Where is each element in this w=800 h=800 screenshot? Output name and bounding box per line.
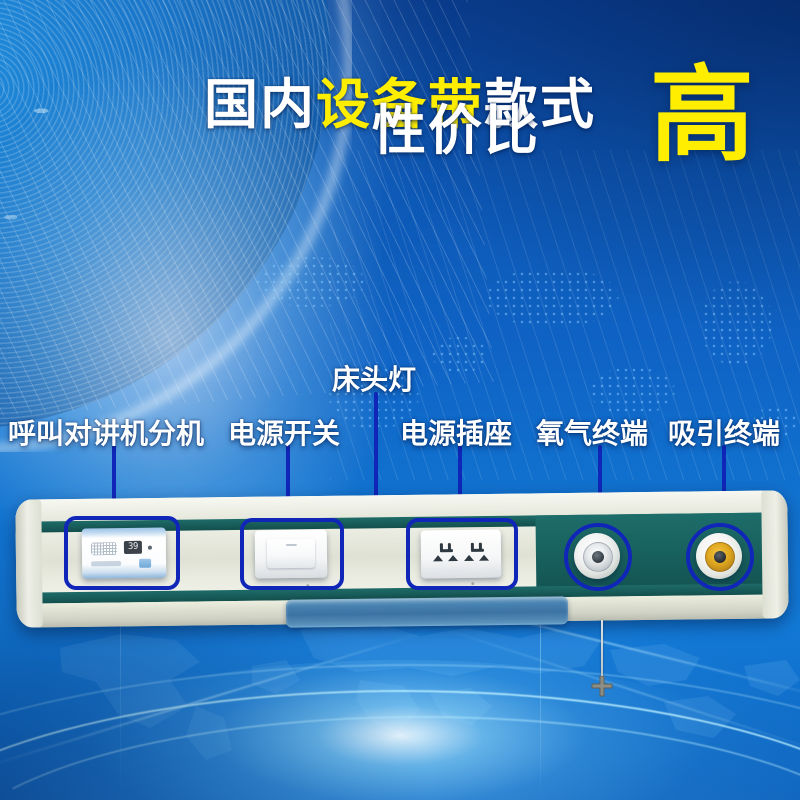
callout-label-suction: 吸引终端 [668,412,780,452]
highlight-box-intercom [64,516,180,590]
pull-cord-chain[interactable] [601,620,603,682]
headline-line-2: 性价比 [372,86,540,165]
panel-end-cap-right [761,490,789,618]
highlight-circle-suction [686,523,754,591]
banner-canvas: 国内设备带款式 性价比 高 39 [0,0,800,800]
callout-label-oxygen: 氧气终端 [536,412,648,452]
panel-end-cap-left [15,499,43,627]
headline-line1-part1: 国内 [204,73,316,136]
highlight-box-switch [240,518,344,590]
callout-label-intercom: 呼叫对讲机分机 [8,412,204,452]
callout-label-socket: 电源插座 [400,412,512,452]
bed-lamp-light-diffuser [286,596,568,627]
highlight-circle-oxygen [564,523,632,591]
highlight-box-socket [406,518,518,590]
callout-label-switch: 电源开关 [228,412,340,452]
callout-label-bed-lamp: 床头灯 [332,358,416,398]
headline-emphasis-high: 高 [650,64,754,168]
pull-cord-handle-icon[interactable] [589,676,615,702]
